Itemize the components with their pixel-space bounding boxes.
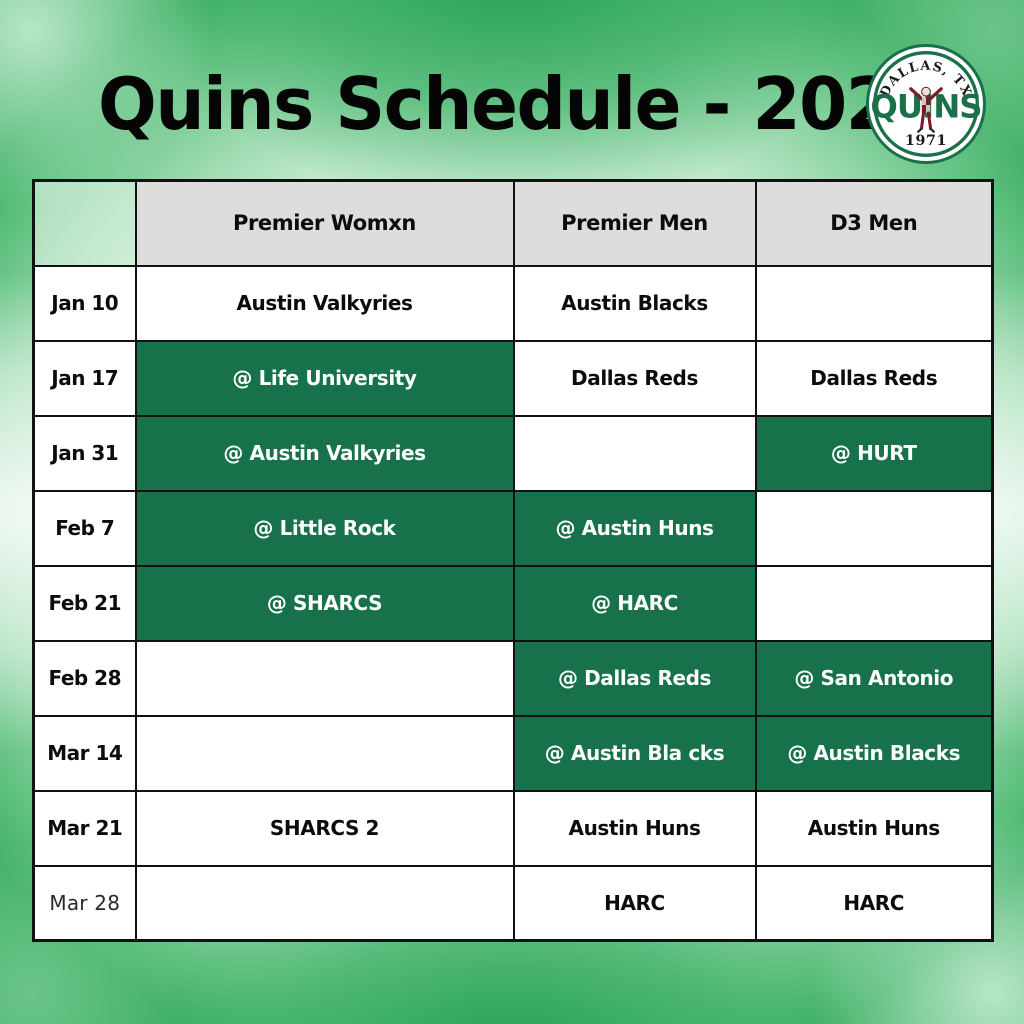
header-corner-cell [34, 181, 136, 266]
page-title: Quins Schedule - 2026 [98, 52, 808, 156]
header-row: Premier Womxn Premier Men D3 Men [34, 181, 993, 266]
match-cell-d3-men: @ Austin Blacks [756, 716, 993, 791]
match-cell-premier-men: @ Austin Bla cks [514, 716, 756, 791]
match-cell-premier-men: @ Austin Huns [514, 491, 756, 566]
match-cell-premier-men: Austin Blacks [514, 266, 756, 341]
table-row: Jan 17@ Life UniversityDallas RedsDallas… [34, 341, 993, 416]
match-cell-premier-womxn: @ Austin Valkyries [136, 416, 514, 491]
match-cell-premier-womxn: SHARCS 2 [136, 791, 514, 866]
svg-text:1971: 1971 [905, 133, 947, 149]
match-cell-d3-men [756, 491, 993, 566]
match-cell-d3-men: @ San Antonio [756, 641, 993, 716]
match-cell-d3-men [756, 266, 993, 341]
quins-club-logo: DALLAS, TX QUINS 1971 [866, 44, 986, 164]
table-row: Mar 21SHARCS 2Austin HunsAustin Huns [34, 791, 993, 866]
column-header-premier-men: Premier Men [514, 181, 756, 266]
table-row: Mar 28HARCHARC [34, 866, 993, 941]
table-row: Jan 10Austin ValkyriesAustin Blacks [34, 266, 993, 341]
match-cell-premier-men: Austin Huns [514, 791, 756, 866]
table-header: Premier Womxn Premier Men D3 Men [34, 181, 993, 266]
match-cell-d3-men [756, 566, 993, 641]
match-cell-premier-womxn: @ SHARCS [136, 566, 514, 641]
match-cell-premier-womxn [136, 641, 514, 716]
match-cell-premier-womxn [136, 716, 514, 791]
match-cell-premier-womxn: @ Life University [136, 341, 514, 416]
date-cell: Mar 21 [34, 791, 136, 866]
table-row: Feb 7@ Little Rock@ Austin Huns [34, 491, 993, 566]
date-cell: Feb 21 [34, 566, 136, 641]
date-cell: Mar 28 [34, 866, 136, 941]
match-cell-premier-womxn: @ Little Rock [136, 491, 514, 566]
match-cell-premier-men: @ HARC [514, 566, 756, 641]
match-cell-premier-men: Dallas Reds [514, 341, 756, 416]
match-cell-d3-men: Dallas Reds [756, 341, 993, 416]
table-row: Jan 31@ Austin Valkyries@ HURT [34, 416, 993, 491]
match-cell-d3-men: HARC [756, 866, 993, 941]
table-row: Feb 21@ SHARCS@ HARC [34, 566, 993, 641]
match-cell-premier-men: @ Dallas Reds [514, 641, 756, 716]
table-body: Jan 10Austin ValkyriesAustin BlacksJan 1… [34, 266, 993, 941]
match-cell-d3-men: Austin Huns [756, 791, 993, 866]
date-cell: Feb 28 [34, 641, 136, 716]
match-cell-premier-men: HARC [514, 866, 756, 941]
column-header-premier-womxn: Premier Womxn [136, 181, 514, 266]
date-cell: Jan 17 [34, 341, 136, 416]
schedule-poster: Quins Schedule - 2026 DALLAS, TX QUINS 1… [0, 0, 1024, 1024]
match-cell-premier-womxn: Austin Valkyries [136, 266, 514, 341]
date-cell: Jan 10 [34, 266, 136, 341]
match-cell-d3-men: @ HURT [756, 416, 993, 491]
date-cell: Jan 31 [34, 416, 136, 491]
date-cell: Feb 7 [34, 491, 136, 566]
column-header-d3-men: D3 Men [756, 181, 993, 266]
match-cell-premier-men [514, 416, 756, 491]
match-cell-premier-womxn [136, 866, 514, 941]
table-row: Mar 14@ Austin Bla cks@ Austin Blacks [34, 716, 993, 791]
table-row: Feb 28@ Dallas Reds@ San Antonio [34, 641, 993, 716]
date-cell: Mar 14 [34, 716, 136, 791]
schedule-table: Premier Womxn Premier Men D3 Men Jan 10A… [32, 179, 994, 942]
